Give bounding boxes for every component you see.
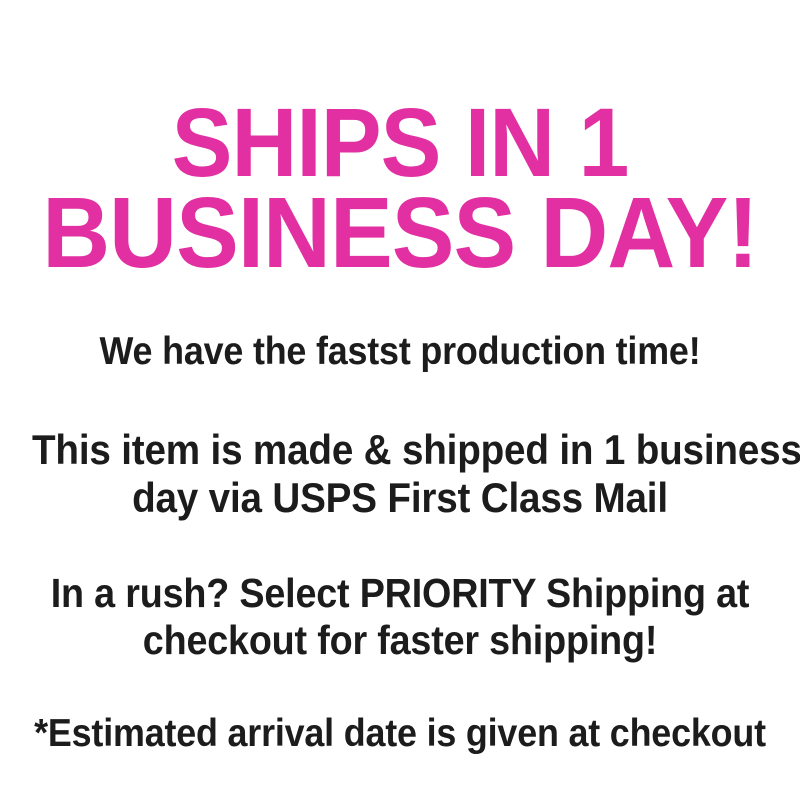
headline-line-2: BUSINESS DAY!	[24, 188, 776, 278]
shipping-info-graphic: SHIPS IN 1 BUSINESS DAY! We have the fas…	[0, 0, 800, 800]
headline: SHIPS IN 1 BUSINESS DAY!	[24, 98, 776, 278]
headline-line-1: SHIPS IN 1	[24, 98, 776, 188]
paragraph-production-time: We have the fastst production time!	[0, 330, 800, 374]
paragraph-priority-shipping: In a rush? Select PRIORITY Shipping at c…	[0, 570, 800, 664]
paragraph-line: In a rush? Select PRIORITY Shipping at	[32, 570, 768, 617]
paragraph-made-and-shipped: This item is made & shipped in 1 busines…	[0, 426, 800, 522]
body-copy: We have the fastst production time! This…	[0, 330, 800, 756]
paragraph-line: *Estimated arrival date is given at chec…	[32, 712, 768, 756]
paragraph-line: We have the fastst production time!	[32, 330, 768, 374]
paragraph-line: checkout for faster shipping!	[32, 617, 768, 664]
paragraph-line: This item is made & shipped in 1 busines…	[32, 426, 768, 474]
paragraph-estimated-arrival: *Estimated arrival date is given at chec…	[0, 712, 800, 756]
paragraph-line: day via USPS First Class Mail	[32, 474, 768, 522]
